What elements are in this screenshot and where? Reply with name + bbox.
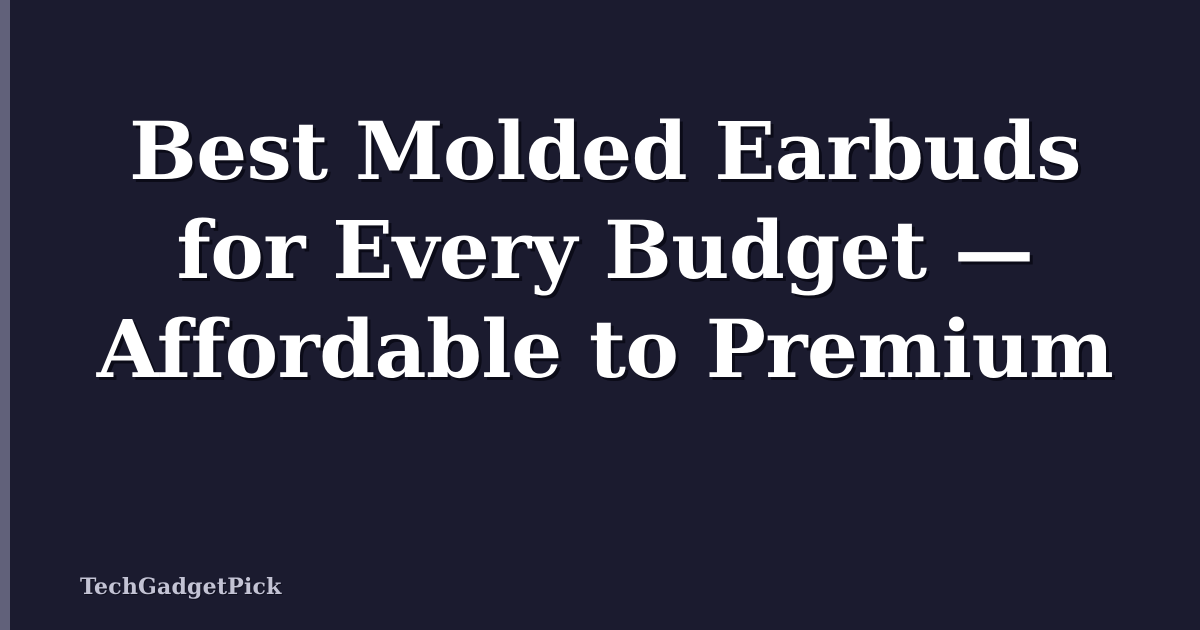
- title-line-2: for Every Budget —: [28, 201, 1182, 300]
- title-block: Best Molded Earbuds for Every Budget — A…: [10, 0, 1200, 500]
- social-share-banner: Best Molded Earbuds for Every Budget — A…: [0, 0, 1200, 630]
- brand-wordmark: TechGadgetPick: [80, 574, 282, 600]
- left-accent-stripe: [0, 0, 10, 630]
- title-line-1: Best Molded Earbuds: [28, 102, 1182, 201]
- title-line-3: Affordable to Premium: [28, 300, 1182, 399]
